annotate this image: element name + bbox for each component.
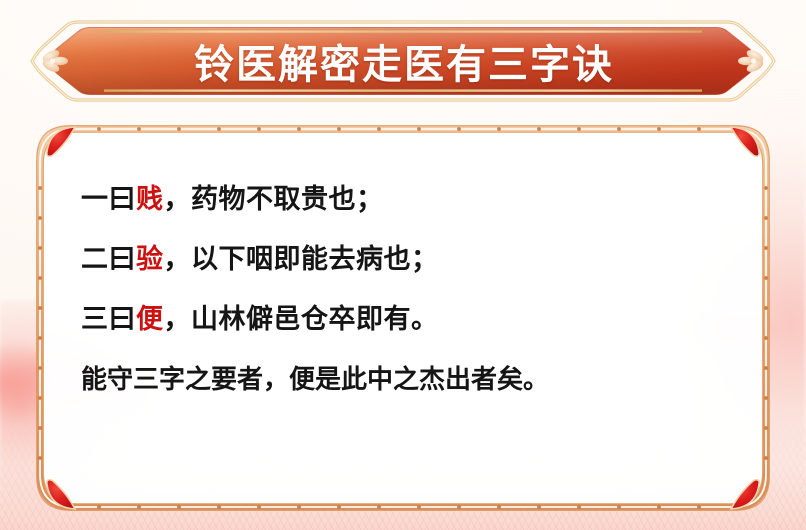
card-line-1-highlight: 贱 [136,184,164,215]
content-card: 一曰贱，药物不取贵也； 二曰验，以下咽即能去病也； 三曰便，山林僻邑仓卒即有。 … [33,122,773,514]
card-line-1: 一曰贱，药物不取贵也； [81,170,731,230]
card-line-1-prefix: 一曰 [81,184,136,215]
banner-title-text: 铃医解密走医有三字诀 [18,20,788,102]
card-line-3-suffix: ，山林僻邑仓卒即有。 [164,304,439,335]
card-line-3-highlight: 便 [136,304,164,335]
card-line-2-highlight: 验 [136,244,164,275]
slide-canvas: 铃医解密走医有三字诀 [0,0,806,530]
card-line-2: 二曰验，以下咽即能去病也； [81,230,731,290]
title-banner: 铃医解密走医有三字诀 [18,20,788,102]
card-line-4-prefix: 能守三字之要者，便是此中之杰出者矣。 [81,365,549,395]
card-line-1-suffix: ，药物不取贵也； [164,184,384,215]
card-line-2-suffix: ，以下咽即能去病也； [164,244,439,275]
card-line-3-prefix: 三曰 [81,304,136,335]
card-line-3: 三曰便，山林僻邑仓卒即有。 [81,290,731,350]
card-text-block: 一曰贱，药物不取贵也； 二曰验，以下咽即能去病也； 三曰便，山林僻邑仓卒即有。 … [81,170,731,410]
card-line-4: 能守三字之要者，便是此中之杰出者矣。 [81,350,731,410]
card-line-2-prefix: 二曰 [81,244,136,275]
